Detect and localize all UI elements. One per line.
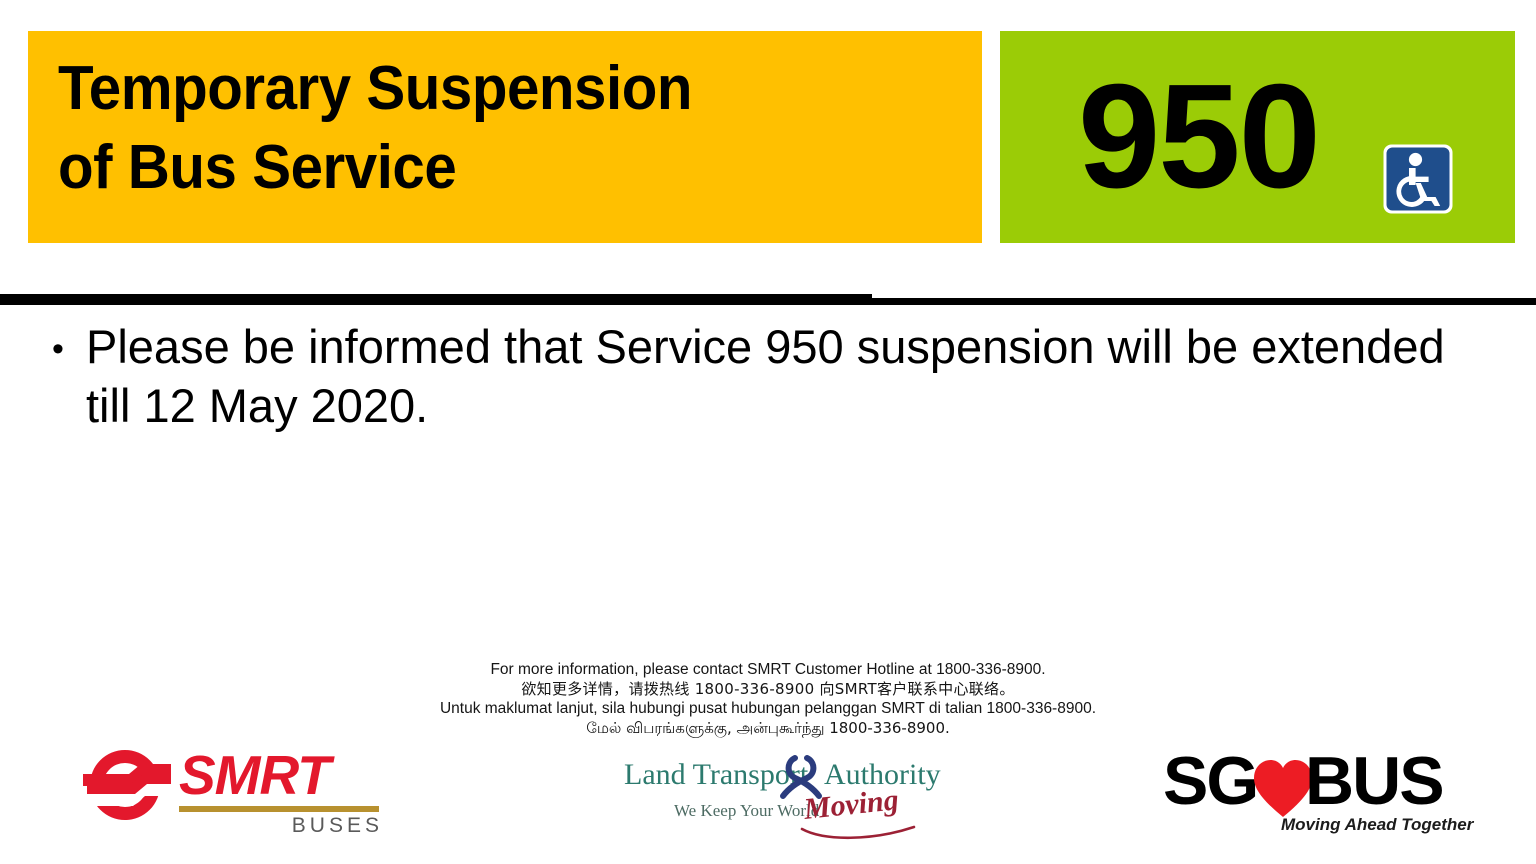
smrt-wordmark: SMRT xyxy=(179,746,330,804)
header-band: Temporary Suspension of Bus Service 950 xyxy=(0,0,1536,280)
notice-body-text: Please be informed that Service 950 susp… xyxy=(86,320,1445,432)
sgbus-text-left: SG xyxy=(1163,745,1257,817)
body-region: • Please be informed that Service 950 su… xyxy=(0,318,1536,638)
smrt-roundel-icon xyxy=(75,746,175,824)
list-item: • Please be informed that Service 950 su… xyxy=(0,318,1536,436)
lta-script-swash xyxy=(800,825,916,841)
smrt-subtitle: BUSES xyxy=(292,814,383,838)
sg-bus-logo: SG BUS Moving Ahead Together xyxy=(1163,745,1448,845)
title-panel: Temporary Suspension of Bus Service xyxy=(28,31,982,243)
page-title: Temporary Suspension of Bus Service xyxy=(58,49,927,208)
sgbus-tagline: Moving Ahead Together xyxy=(1281,815,1473,835)
footer-notes: For more information, please contact SMR… xyxy=(0,660,1536,738)
divider-line-secondary xyxy=(872,298,1536,305)
logo-row: SMRT BUSES Land Transport Authority We K… xyxy=(0,735,1536,864)
bullet-marker: • xyxy=(52,332,64,366)
smrt-gold-bar xyxy=(179,806,379,812)
footer-line-chinese: 欲知更多详情，请拨热线 1800-336-8900 向SMRT客户联系中心联络。 xyxy=(0,680,1536,700)
service-number: 950 xyxy=(1078,39,1319,235)
footer-line-english: For more information, please contact SMR… xyxy=(0,660,1536,680)
sgbus-text-right: BUS xyxy=(1305,745,1443,817)
service-number-panel: 950 xyxy=(1000,31,1515,243)
smrt-buses-logo: SMRT BUSES xyxy=(75,740,385,845)
lta-tagline: We Keep Your World xyxy=(674,801,819,821)
wheelchair-accessible-icon xyxy=(1382,143,1454,215)
divider-line-primary xyxy=(0,294,872,305)
bus-service-notice-slide: { "notice": { "title": "Temporary Suspen… xyxy=(0,0,1536,864)
land-transport-authority-logo: Land Transport Authority We Keep Your Wo… xyxy=(612,755,924,850)
footer-line-malay: Untuk maklumat lanjut, sila hubungi pusa… xyxy=(0,699,1536,719)
